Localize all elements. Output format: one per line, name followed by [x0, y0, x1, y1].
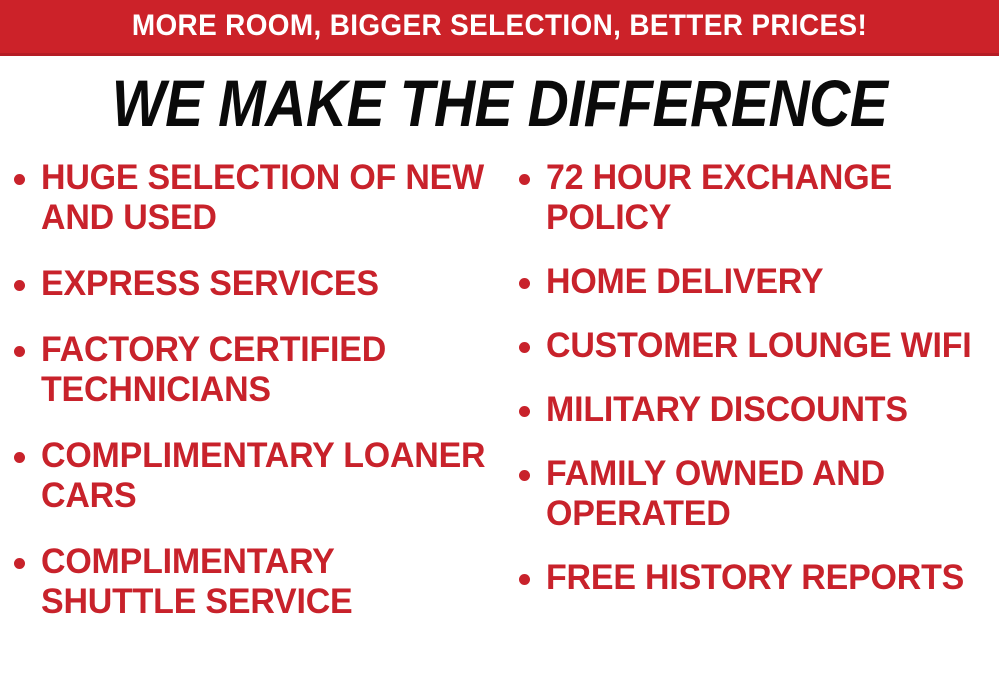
list-item: FAMILY OWNED AND OPERATED [519, 454, 999, 534]
bullet-dot-icon [519, 342, 530, 353]
bullet-dot-icon [14, 280, 25, 291]
bullet-dot-icon [519, 406, 530, 417]
bullet-dot-icon [14, 174, 25, 185]
feature-column-left: HUGE SELECTION OF NEW AND USED EXPRESS S… [0, 158, 505, 622]
list-item-label: COMPLIMENTARY LOANER CARS [41, 436, 487, 516]
bullet-dot-icon [519, 470, 530, 481]
list-item-label: HOME DELIVERY [546, 262, 985, 302]
feature-column-right: 72 HOUR EXCHANGE POLICY HOME DELIVERY CU… [505, 158, 999, 622]
list-item: COMPLIMENTARY LOANER CARS [14, 436, 501, 516]
feature-columns: HUGE SELECTION OF NEW AND USED EXPRESS S… [0, 158, 999, 692]
list-item: CUSTOMER LOUNGE WIFI [519, 326, 999, 366]
list-item: FACTORY CERTIFIED TECHNICIANS [14, 330, 501, 410]
advertisement-graphic: MORE ROOM, BIGGER SELECTION, BETTER PRIC… [0, 0, 999, 692]
list-item-label: FAMILY OWNED AND OPERATED [546, 454, 985, 534]
bullet-dot-icon [519, 574, 530, 585]
feature-list-left: HUGE SELECTION OF NEW AND USED EXPRESS S… [14, 158, 501, 622]
list-item-label: CUSTOMER LOUNGE WIFI [546, 326, 985, 366]
list-item-label: COMPLIMENTARY SHUTTLE SERVICE [41, 542, 487, 622]
list-item-label: EXPRESS SERVICES [41, 264, 487, 304]
list-item-label: FACTORY CERTIFIED TECHNICIANS [41, 330, 487, 410]
list-item: COMPLIMENTARY SHUTTLE SERVICE [14, 542, 501, 622]
bullet-dot-icon [519, 174, 530, 185]
headline: WE MAKE THE DIFFERENCE [0, 72, 999, 134]
headline-text: WE MAKE THE DIFFERENCE [112, 72, 888, 138]
top-promo-banner-text: MORE ROOM, BIGGER SELECTION, BETTER PRIC… [35, 11, 964, 43]
list-item: MILITARY DISCOUNTS [519, 390, 999, 430]
bullet-dot-icon [14, 346, 25, 357]
list-item-label: FREE HISTORY REPORTS [546, 558, 985, 598]
list-item: FREE HISTORY REPORTS [519, 558, 999, 598]
list-item-label: 72 HOUR EXCHANGE POLICY [546, 158, 985, 238]
top-promo-banner: MORE ROOM, BIGGER SELECTION, BETTER PRIC… [0, 0, 999, 56]
feature-list-right: 72 HOUR EXCHANGE POLICY HOME DELIVERY CU… [519, 158, 999, 598]
list-item-label: HUGE SELECTION OF NEW AND USED [41, 158, 487, 238]
list-item: HOME DELIVERY [519, 262, 999, 302]
bullet-dot-icon [519, 278, 530, 289]
list-item: HUGE SELECTION OF NEW AND USED [14, 158, 501, 238]
bullet-dot-icon [14, 452, 25, 463]
list-item-label: MILITARY DISCOUNTS [546, 390, 985, 430]
list-item: 72 HOUR EXCHANGE POLICY [519, 158, 999, 238]
bullet-dot-icon [14, 558, 25, 569]
list-item: EXPRESS SERVICES [14, 264, 501, 304]
